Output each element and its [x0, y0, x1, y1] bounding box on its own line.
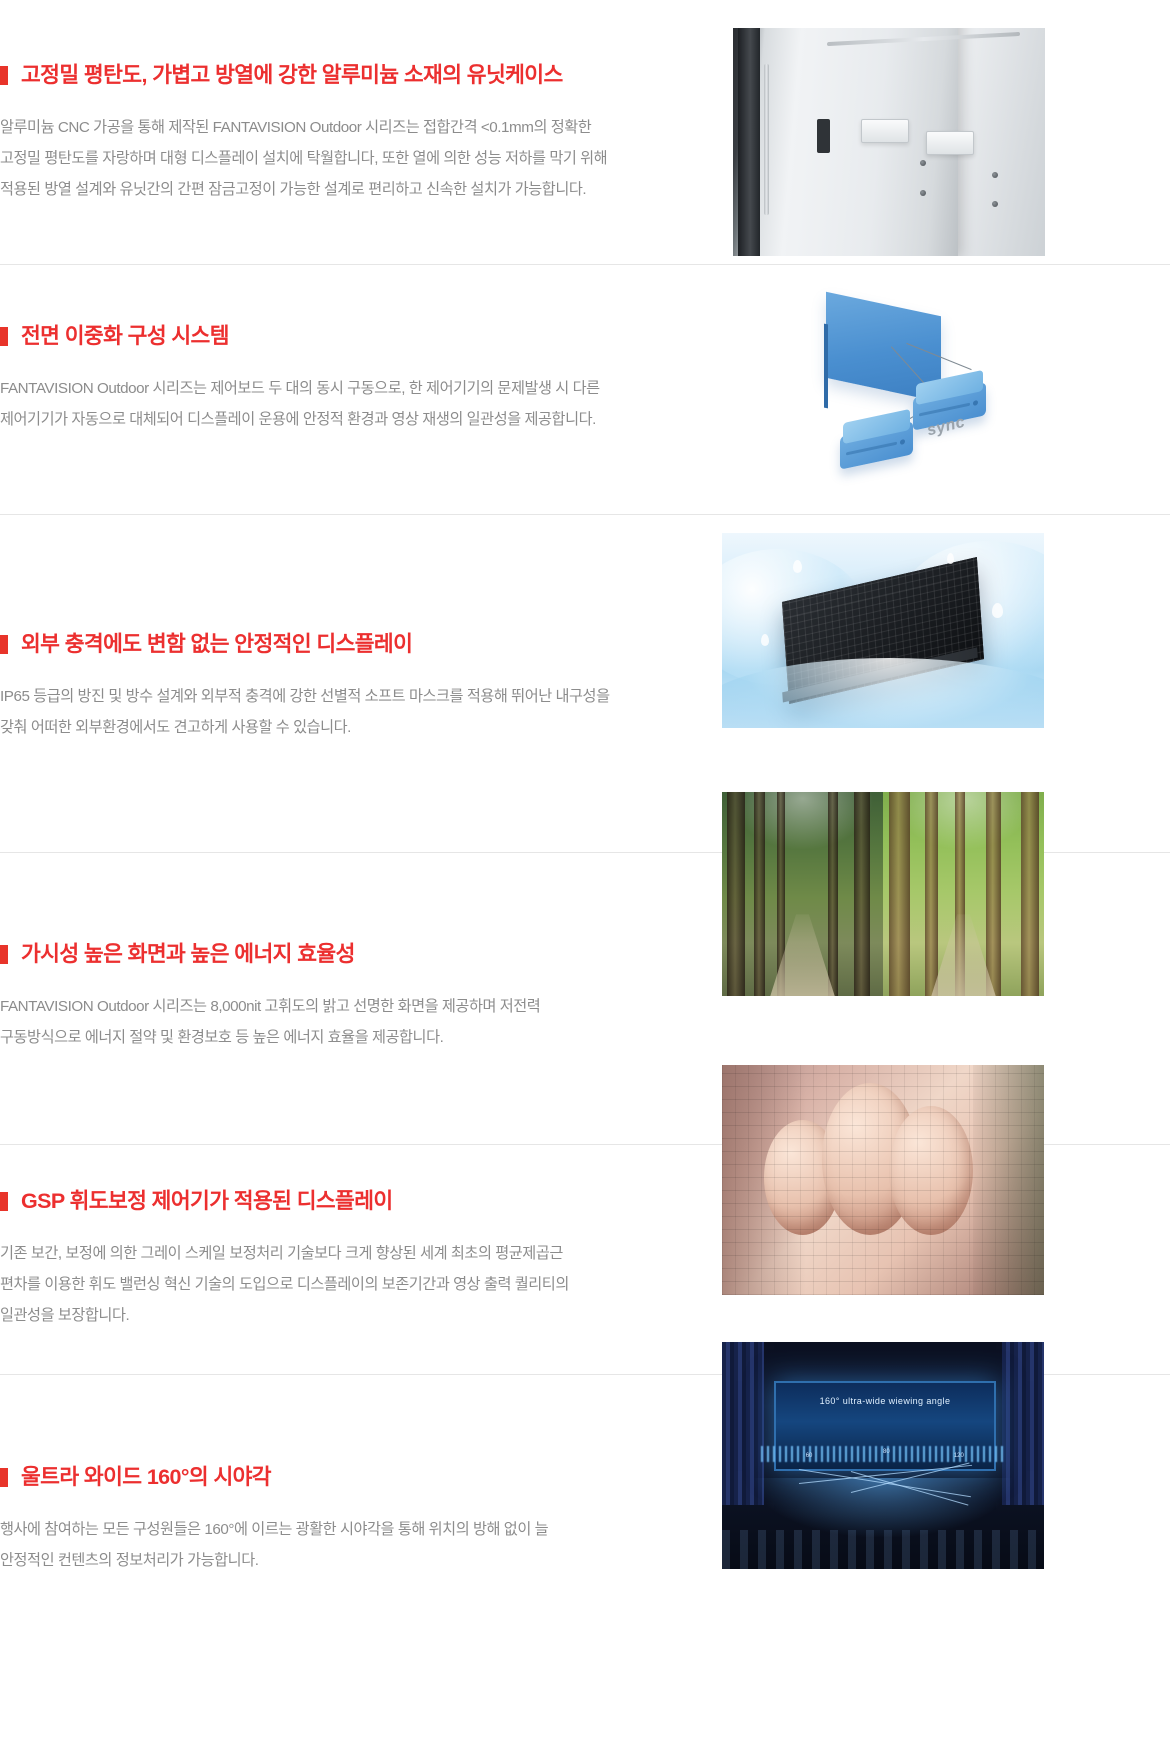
water-droplet — [793, 560, 802, 573]
viewing-angle-photo: 160° ultra-wide wiewing angle 60 80 120 — [722, 1342, 1044, 1569]
feature-text-column: 고정밀 평탄도, 가볍고 방열에 강한 알루미늄 소재의 유닛케이스 알루미늄 … — [0, 63, 712, 205]
feature-body: 행사에 참여하는 모든 구성원들은 160°에 이르는 광활한 시야각을 통해 … — [0, 1514, 712, 1576]
body-line: 안정적인 컨텐츠의 정보처리가 가능합니다. — [0, 1545, 712, 1576]
feature-image-durability — [722, 533, 1044, 728]
body-line: 일관성을 보장합니다. — [0, 1300, 712, 1331]
feature-body: 알루미늄 CNC 가공을 통해 제작된 FANTAVISION Outdoor … — [0, 112, 712, 205]
diagram-port-dot — [900, 439, 905, 445]
square-bullet-icon — [0, 635, 8, 654]
feature-text-column: 전면 이중화 구성 시스템 FANTAVISION Outdoor 시리즈는 제… — [0, 324, 712, 435]
body-line: 적용된 방열 설계와 유닛간의 간편 잠금고정이 가능한 설계로 편리하고 신속… — [0, 174, 712, 205]
photo-lock-plate — [861, 119, 909, 143]
feature-heading: 외부 충격에도 변함 없는 안정적인 디스플레이 — [0, 632, 712, 658]
body-line: 구동방식으로 에너지 절약 및 환경보호 등 높은 에너지 효율을 제공합니다. — [0, 1022, 712, 1053]
waterproof-panel-photo — [722, 533, 1044, 728]
feature-body: IP65 등급의 방진 및 방수 설계와 외부적 충격에 강한 선별적 소프트 … — [0, 681, 712, 743]
body-line: IP65 등급의 방진 및 방수 설계와 외부적 충격에 강한 선별적 소프트 … — [0, 681, 712, 712]
feature-image-viewing-angle: 160° ultra-wide wiewing angle 60 80 120 — [722, 1342, 1044, 1569]
feature-image-unit-case — [733, 28, 1045, 256]
body-line: 갖춰 어떠한 외부환경에서도 견고하게 사용할 수 있습니다. — [0, 712, 712, 743]
angle-tick-label: 120 — [954, 1453, 964, 1459]
diagram-display-edge — [824, 323, 828, 408]
tree-trunk — [925, 792, 938, 996]
gsp-macro-photo — [722, 1065, 1044, 1295]
water-droplet — [761, 634, 769, 646]
forest-bright-half — [883, 792, 1044, 996]
photo-lock-plate — [926, 131, 974, 155]
body-line: 고정밀 평탄도를 자랑하며 대형 디스플레이 설치에 탁월합니다, 또한 열에 … — [0, 143, 712, 174]
photo-hinge — [817, 119, 830, 153]
product-feature-page: 고정밀 평탄도, 가볍고 방열에 강한 알루미늄 소재의 유닛케이스 알루미늄 … — [0, 0, 1170, 1760]
tree-trunk — [986, 792, 1000, 996]
feature-heading: 전면 이중화 구성 시스템 — [0, 324, 712, 350]
feature-image-gsp — [722, 1065, 1044, 1295]
feature-image-redundancy: sync — [770, 285, 1050, 500]
angle-tick-label: 80 — [883, 1449, 890, 1455]
square-bullet-icon — [0, 327, 8, 346]
feature-heading-text: 전면 이중화 구성 시스템 — [21, 324, 229, 350]
feature-image-visibility — [722, 792, 1044, 996]
tree-trunk — [754, 792, 765, 996]
body-line: FANTAVISION Outdoor 시리즈는 제어보드 두 대의 동시 구동… — [0, 373, 712, 404]
audience-seats — [722, 1530, 1044, 1569]
feature-heading: 울트라 와이드 160°의 시야각 — [0, 1465, 712, 1491]
redundancy-diagram: sync — [770, 285, 1050, 500]
feature-section-redundancy: 전면 이중화 구성 시스템 FANTAVISION Outdoor 시리즈는 제… — [0, 265, 1170, 515]
diagram-controller-top — [843, 409, 910, 444]
body-line: 편차를 이용한 휘도 밸런싱 혁신 기술의 도입으로 디스플레이의 보존기간과 … — [0, 1269, 712, 1300]
square-bullet-icon — [0, 945, 8, 964]
angle-tick-label: 60 — [806, 1453, 813, 1459]
photo-door-edge — [738, 28, 760, 256]
body-line: FANTAVISION Outdoor 시리즈는 8,000nit 고휘도의 밝… — [0, 991, 712, 1022]
feature-heading-text: 고정밀 평탄도, 가볍고 방열에 강한 알루미늄 소재의 유닛케이스 — [21, 63, 563, 89]
tree-trunk — [889, 792, 910, 996]
feature-heading: 가시성 높은 화면과 높은 에너지 효율성 — [0, 942, 712, 968]
feature-heading: 고정밀 평탄도, 가볍고 방열에 강한 알루미늄 소재의 유닛케이스 — [0, 63, 712, 89]
feature-heading-text: 외부 충격에도 변함 없는 안정적인 디스플레이 — [21, 632, 412, 658]
feature-text-column: 외부 충격에도 변함 없는 안정적인 디스플레이 IP65 등급의 방진 및 방… — [0, 632, 712, 743]
brightness-comparison-photo — [722, 792, 1044, 996]
screen-caption: 160° ultra-wide wiewing angle — [776, 1396, 995, 1406]
feature-body: 기존 보간, 보정에 의한 그레이 스케일 보정처리 기술보다 크게 향상된 세… — [0, 1238, 712, 1331]
photo-screw — [992, 172, 998, 178]
tree-trunk — [854, 792, 870, 996]
feature-section-unit-case: 고정밀 평탄도, 가볍고 방열에 강한 알루미늄 소재의 유닛케이스 알루미늄 … — [0, 0, 1170, 265]
tree-trunk — [1021, 792, 1039, 996]
forest-dim-half — [722, 792, 883, 996]
diagram-port-strip — [846, 442, 897, 456]
body-line: 기존 보간, 보정에 의한 그레이 스케일 보정처리 기술보다 크게 향상된 세… — [0, 1238, 712, 1269]
body-line: 행사에 참여하는 모든 구성원들은 160°에 이르는 광활한 시야각을 통해 … — [0, 1514, 712, 1545]
pixel-grid-overlay — [722, 1065, 1044, 1295]
feature-heading-text: 가시성 높은 화면과 높은 에너지 효율성 — [21, 942, 355, 968]
feature-body: FANTAVISION Outdoor 시리즈는 제어보드 두 대의 동시 구동… — [0, 373, 712, 435]
feature-heading-text: 울트라 와이드 160°의 시야각 — [21, 1465, 271, 1491]
photo-handle-bar — [764, 64, 769, 214]
feature-text-column: 울트라 와이드 160°의 시야각 행사에 참여하는 모든 구성원들은 160°… — [0, 1465, 712, 1576]
diagram-controller-box — [840, 421, 913, 470]
square-bullet-icon — [0, 1192, 8, 1211]
feature-heading-text: GSP 휘도보정 제어기가 적용된 디스플레이 — [21, 1189, 393, 1215]
feature-body: FANTAVISION Outdoor 시리즈는 8,000nit 고휘도의 밝… — [0, 991, 712, 1053]
square-bullet-icon — [0, 1468, 8, 1487]
body-line: 알루미늄 CNC 가공을 통해 제작된 FANTAVISION Outdoor … — [0, 112, 712, 143]
water-wave — [722, 658, 1044, 728]
body-line: 제어기기가 자동으로 대체되어 디스플레이 운용에 안정적 환경과 영상 재생의… — [0, 404, 712, 435]
feature-section-viewing-angle: 울트라 와이드 160°의 시야각 행사에 참여하는 모든 구성원들은 160°… — [0, 1375, 1170, 1760]
tree-trunk — [828, 792, 838, 996]
feature-text-column: GSP 휘도보정 제어기가 적용된 디스플레이 기존 보간, 보정에 의한 그레… — [0, 1189, 712, 1331]
tree-trunk — [727, 792, 745, 996]
feature-section-gsp: GSP 휘도보정 제어기가 적용된 디스플레이 기존 보간, 보정에 의한 그레… — [0, 1145, 1170, 1375]
screen-glow — [754, 1478, 1012, 1537]
feature-heading: GSP 휘도보정 제어기가 적용된 디스플레이 — [0, 1189, 712, 1215]
square-bullet-icon — [0, 66, 8, 85]
diagram-port-dot — [972, 400, 977, 406]
feature-text-column: 가시성 높은 화면과 높은 에너지 효율성 FANTAVISION Outdoo… — [0, 942, 712, 1053]
unit-case-photo — [733, 28, 1045, 256]
